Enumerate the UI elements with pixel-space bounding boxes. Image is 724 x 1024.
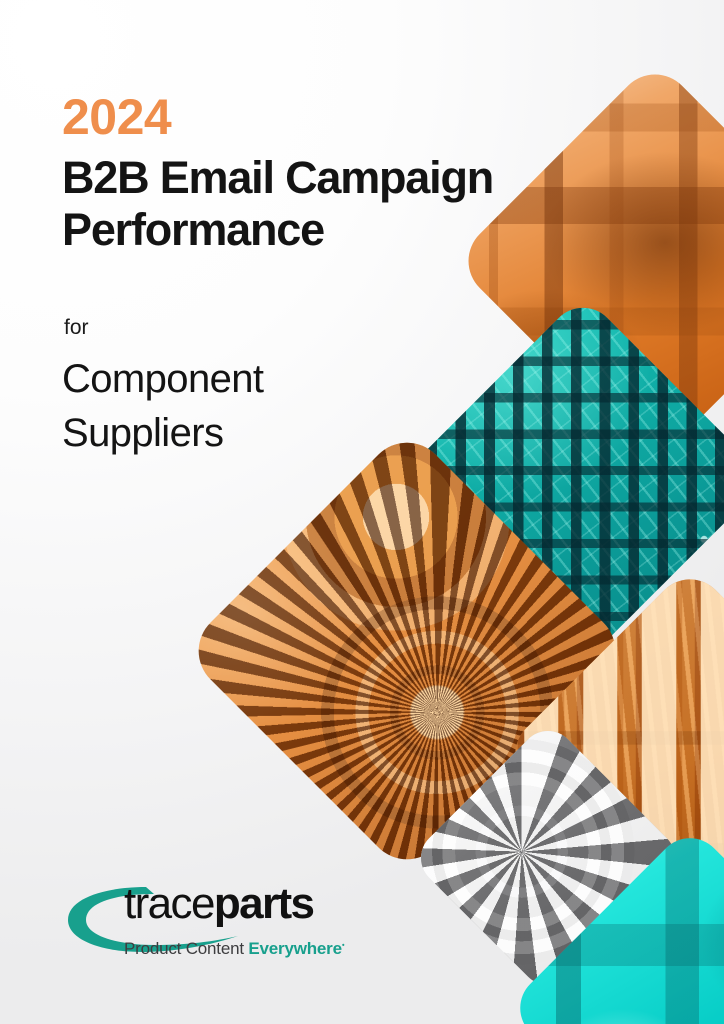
page-subtitle-line-1: Component [62, 357, 263, 401]
tagline-trademark-mark: • [342, 940, 345, 949]
traceparts-wordmark: traceparts [124, 882, 313, 926]
page-subtitle-line-2: Suppliers [62, 406, 492, 460]
page-title: B2B Email Campaign Performance [62, 152, 592, 256]
cover-text-block: 2024 B2B Email Campaign Performance for … [62, 0, 602, 1024]
wordmark-parts: parts [214, 879, 314, 928]
wordmark-trace: trace [124, 879, 214, 928]
traceparts-logo: traceparts Product Content Everywhere• [62, 878, 352, 974]
page-subtitle: Component Suppliers [62, 352, 492, 461]
page-title-line-2: Performance [62, 204, 592, 256]
brand-tagline: Product Content Everywhere• [124, 940, 344, 957]
audience-preposition: for [64, 316, 89, 340]
page-title-line-1: B2B Email Campaign [62, 152, 493, 203]
tagline-accent: Everywhere [248, 939, 341, 958]
report-cover-page: 2024 B2B Email Campaign Performance for … [0, 0, 724, 1024]
tagline-plain: Product Content [124, 939, 248, 958]
cover-year: 2024 [62, 92, 171, 142]
